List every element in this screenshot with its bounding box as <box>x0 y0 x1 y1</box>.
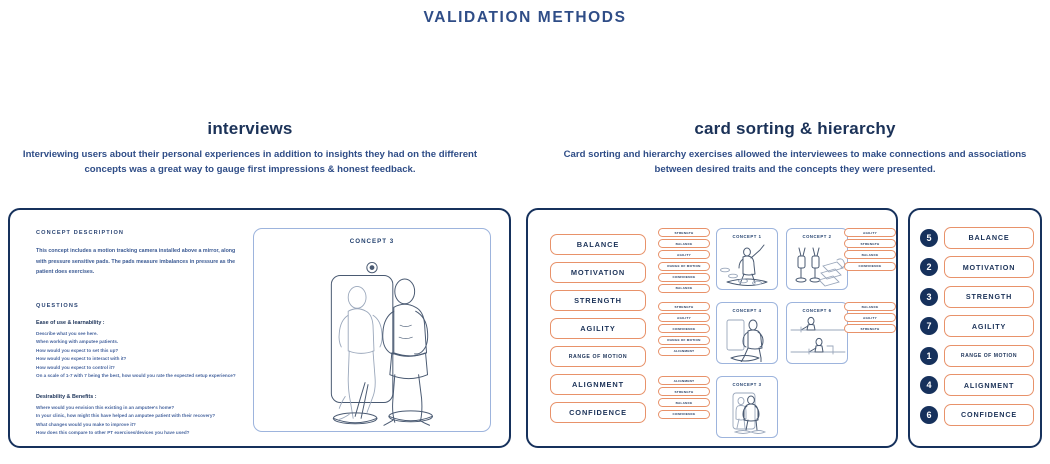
card-sorting-section-header: card sorting & hierarchy Card sorting an… <box>545 119 1045 178</box>
concept-illustration-title: CONCEPT 3 <box>254 238 490 245</box>
hierarchy-row: 2MOTIVATION <box>920 256 1034 279</box>
questions-label: QUESTIONS <box>36 303 241 309</box>
ranked-trait-card[interactable]: BALANCE <box>944 227 1034 249</box>
question-item: What changes would you make to improve i… <box>36 421 241 429</box>
concept-tag[interactable]: CONFIDENCE <box>658 410 710 419</box>
question-item: Where would you envision this existing i… <box>36 404 241 412</box>
hierarchy-row: 1RANGE OF MOTION <box>920 344 1034 367</box>
concept-tag[interactable]: BALANCE <box>658 239 710 248</box>
interviews-section-header: interviews Interviewing users about thei… <box>10 119 490 178</box>
hierarchy-row: 4ALIGNMENT <box>920 374 1034 397</box>
concept-sketch-title: CONCEPT 2 <box>787 234 847 239</box>
concept-tag[interactable]: RANGE OF MOTION <box>658 336 710 345</box>
concept-grid: STRENGTHBALANCEAGILITYRANGE OF MOTIONCON… <box>658 220 896 442</box>
concept-sketch-card[interactable]: CONCEPT 6 <box>786 302 848 364</box>
concept-tag[interactable]: ALIGNMENT <box>658 376 710 385</box>
question-item: In your clinic, how might this have help… <box>36 412 241 420</box>
ranked-trait-card[interactable]: ALIGNMENT <box>944 374 1034 396</box>
person-on-board-icon <box>717 314 777 362</box>
interview-document: CONCEPT DESCRIPTION This concept include… <box>36 230 241 438</box>
page-title: VALIDATION METHODS <box>0 9 1050 27</box>
interviews-description: Interviewing users about their personal … <box>10 148 490 178</box>
trait-card[interactable]: STRENGTH <box>550 290 646 311</box>
concept-description-body: This concept includes a motion tracking … <box>36 246 241 278</box>
concept-tag[interactable]: AGILITY <box>658 250 710 259</box>
concept-tag-column: STRENGTHBALANCEAGILITYRANGE OF MOTIONCON… <box>658 228 710 295</box>
concept-sketch-card[interactable]: CONCEPT 4 <box>716 302 778 364</box>
concept-description-label: CONCEPT DESCRIPTION <box>36 230 241 236</box>
concept-tag[interactable]: STRENGTH <box>844 324 896 333</box>
concept-tag[interactable]: AGILITY <box>658 313 710 322</box>
mirror-pads-sketch-icon <box>254 245 490 431</box>
concept-sketch-title: CONCEPT 1 <box>717 234 777 239</box>
concept-tag[interactable]: BALANCE <box>844 250 896 259</box>
hierarchy-ranking-list: 5BALANCE2MOTIVATION3STRENGTH7AGILITY1RAN… <box>920 226 1034 433</box>
concept-sketch-title: CONCEPT 3 <box>717 382 777 387</box>
ranked-trait-card[interactable]: RANGE OF MOTION <box>944 345 1034 367</box>
concept-tag[interactable]: AGILITY <box>844 228 896 237</box>
concept-row: ALIGNMENTSTRENGTHBALANCECONFIDENCECONCEP… <box>658 376 896 446</box>
hierarchy-row: 7AGILITY <box>920 315 1034 338</box>
rank-number-badge: 1 <box>920 347 938 365</box>
concept-tag[interactable]: STRENGTH <box>658 228 710 237</box>
concept-tag-column: STRENGTHAGILITYCONFIDENCERANGE OF MOTION… <box>658 302 710 358</box>
concept-tag[interactable]: BALANCE <box>844 302 896 311</box>
concept-tag[interactable]: STRENGTH <box>658 387 710 396</box>
trait-card[interactable]: RANGE OF MOTION <box>550 346 646 367</box>
trait-card[interactable]: ALIGNMENT <box>550 374 646 395</box>
trait-card[interactable]: BALANCE <box>550 234 646 255</box>
trait-card[interactable]: MOTIVATION <box>550 262 646 283</box>
concept-tag[interactable]: AGILITY <box>844 313 896 322</box>
concept-sketch-card[interactable]: CONCEPT 1 <box>716 228 778 290</box>
concept-tag-column: AGILITYSTRENGTHBALANCECONFIDENCE <box>844 228 896 273</box>
concept-sketch-card[interactable]: CONCEPT 3 <box>716 376 778 438</box>
card-sorting-panel: BALANCEMOTIVATIONSTRENGTHAGILITYRANGE OF… <box>526 208 898 448</box>
trait-card[interactable]: CONFIDENCE <box>550 402 646 423</box>
trait-card[interactable]: AGILITY <box>550 318 646 339</box>
question-item: How would you expect to interact with it… <box>36 355 241 363</box>
hierarchy-row: 6CONFIDENCE <box>920 403 1034 426</box>
card-sorting-description: Card sorting and hierarchy exercises all… <box>545 148 1045 178</box>
ranked-trait-card[interactable]: STRENGTH <box>944 286 1034 308</box>
concept-tag[interactable]: CONFIDENCE <box>658 273 710 282</box>
concept-tag[interactable]: CONFIDENCE <box>844 262 896 271</box>
concept-sketch-card[interactable]: CONCEPT 2 <box>786 228 848 290</box>
question-item: How does this compare to other PT exerci… <box>36 429 241 437</box>
concept-sketch-title: CONCEPT 4 <box>717 308 777 313</box>
rank-number-badge: 5 <box>920 229 938 247</box>
question-group: Desirability & Benefits :Where would you… <box>36 394 241 438</box>
concept-illustration-box: CONCEPT 3 <box>253 228 491 432</box>
question-item: On a scale of 1-7 with 7 being the best,… <box>36 372 241 380</box>
rank-number-badge: 7 <box>920 317 938 335</box>
concept-sketch-title: CONCEPT 6 <box>787 308 847 313</box>
question-item: How would you expect to set this up? <box>36 347 241 355</box>
hierarchy-row: 3STRENGTH <box>920 285 1034 308</box>
person-on-mat-icon <box>717 240 777 288</box>
concept-tag[interactable]: BALANCE <box>658 398 710 407</box>
card-sorting-heading: card sorting & hierarchy <box>545 119 1045 139</box>
question-groups: Ease of use & learnability :Describe wha… <box>36 320 241 438</box>
rank-number-badge: 6 <box>920 406 938 424</box>
concept-tag[interactable]: CONFIDENCE <box>658 324 710 333</box>
concept-tag[interactable]: STRENGTH <box>844 239 896 248</box>
concept-tag[interactable]: RANGE OF MOTION <box>658 262 710 271</box>
concept-tag[interactable]: BALANCE <box>658 284 710 293</box>
interviews-heading: interviews <box>10 119 490 139</box>
hierarchy-row: 5BALANCE <box>920 226 1034 249</box>
rank-number-badge: 4 <box>920 376 938 394</box>
concept-tag[interactable]: ALIGNMENT <box>658 347 710 356</box>
question-item: Describe what you see here. <box>36 330 241 338</box>
rank-number-badge: 3 <box>920 288 938 306</box>
concept-tag-column: ALIGNMENTSTRENGTHBALANCECONFIDENCE <box>658 376 710 421</box>
ranked-trait-card[interactable]: CONFIDENCE <box>944 404 1034 426</box>
concept-tag-column: BALANCEAGILITYSTRENGTH <box>844 302 896 336</box>
question-group-title: Ease of use & learnability : <box>36 320 241 326</box>
mirror-pads-icon <box>717 388 777 436</box>
concept-row: STRENGTHAGILITYCONFIDENCERANGE OF MOTION… <box>658 302 896 372</box>
interview-panel: CONCEPT DESCRIPTION This concept include… <box>8 208 511 448</box>
hierarchy-panel: 5BALANCE2MOTIVATION3STRENGTH7AGILITY1RAN… <box>908 208 1042 448</box>
ranked-trait-card[interactable]: AGILITY <box>944 315 1034 337</box>
legs-and-ramps-icon <box>787 240 847 288</box>
validation-methods-slide: VALIDATION METHODS interviews Interviewi… <box>0 0 1050 464</box>
question-item: When working with amputee patients. <box>36 338 241 346</box>
ranked-trait-card[interactable]: MOTIVATION <box>944 256 1034 278</box>
wall-exercise-icon <box>787 314 847 362</box>
rank-number-badge: 2 <box>920 258 938 276</box>
question-group: Ease of use & learnability :Describe wha… <box>36 320 241 381</box>
concept-row: STRENGTHBALANCEAGILITYRANGE OF MOTIONCON… <box>658 228 896 298</box>
question-group-title: Desirability & Benefits : <box>36 394 241 400</box>
trait-card-list: BALANCEMOTIVATIONSTRENGTHAGILITYRANGE OF… <box>550 234 646 430</box>
concept-tag[interactable]: STRENGTH <box>658 302 710 311</box>
question-item: How would you expect to control it? <box>36 364 241 372</box>
